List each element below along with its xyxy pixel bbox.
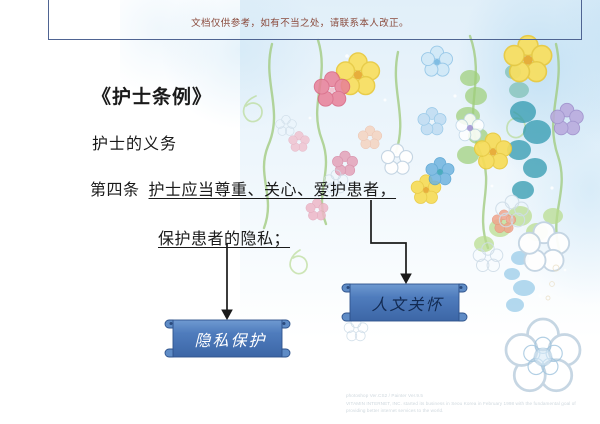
section-subtitle: 护士的义务 (92, 130, 177, 154)
footer-credits: photoshop Ver.CS2 / Painter Ver.9.5 VITA… (346, 392, 576, 415)
clause-line-1-text: 护士应当尊重、关心、爱护患者， (149, 182, 397, 199)
document-disclaimer-note: 文档仅供参考，如有不当之处，请联系本人改正。 (0, 15, 600, 29)
floral-art (0, 0, 600, 424)
slide-canvas: 文档仅供参考，如有不当之处，请联系本人改正。 《护士条例》 护士的义务 第四条 … (0, 0, 600, 424)
clause-number-label: 第四条 (90, 182, 140, 199)
footer-line-2: VITAMIN INTERNET, INC. started its busin… (346, 400, 576, 415)
banner-privacy-label: 隐私保护 (164, 327, 291, 351)
banner-privacy-protection[interactable]: 隐私保护 (164, 316, 291, 361)
footer-line-1: photoshop Ver.CS2 / Painter Ver.9.5 (346, 392, 576, 400)
clause-line-1: 第四条 护士应当尊重、关心、爱护患者， (90, 176, 396, 200)
connector-arrows (0, 0, 600, 424)
watercolor-wash-right (240, 0, 600, 424)
page-title: 《护士条例》 (92, 82, 212, 109)
clause-line-2: 保护患者的隐私； (158, 225, 290, 249)
clause-line-2-text: 保护患者的隐私； (158, 231, 290, 248)
banner-care-label: 人文关怀 (341, 291, 468, 315)
banner-humanistic-care[interactable]: 人文关怀 (341, 280, 468, 325)
care-elbow-arrow (371, 200, 406, 277)
background-decoration (0, 0, 600, 424)
